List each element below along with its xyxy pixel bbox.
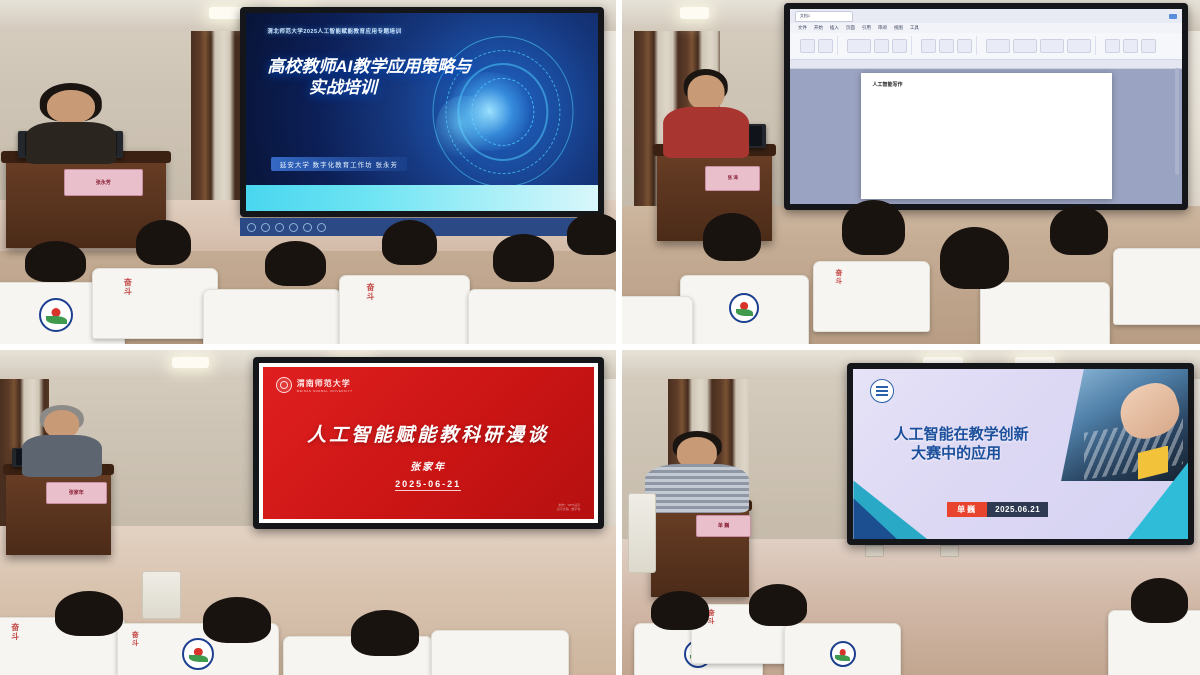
presenter-body [645,464,749,513]
audience-head [55,591,123,637]
audience-head [651,591,709,630]
projection-screen: 人工智能在教学创新 大赛中的应用 单巍 2025.06.21 [853,369,1188,539]
audience-head [703,213,761,261]
university-name-en: WEINAN NORMAL UNIVERSITY [297,389,353,393]
chair-calligraphy: 奋斗 [10,623,18,641]
side-table [142,571,181,619]
document-tab[interactable]: 文档1 [795,11,853,22]
presenter-bottom-left [31,405,93,470]
lecture-hall-bottom-right: 人工智能在教学创新 大赛中的应用 单巍 2025.06.21 单 巍 [622,350,1200,675]
projection-screen-frame: 文档1 文件 开始 插入 页面 引用 审阅 视图 工具 [784,3,1189,209]
photo-collage: 渭北师范大学2025人工智能赋能教育应用专题培训 高校教师AI教学应用策略与 实… [0,0,1200,675]
audience-head [1131,578,1189,624]
style-heading2-button[interactable] [1040,39,1064,52]
panel-top-right: 文档1 文件 开始 插入 页面 引用 审阅 视图 工具 [622,0,1200,344]
ribbon-group-font[interactable] [843,36,912,55]
menu-item-review[interactable]: 审阅 [878,25,887,31]
projection-screen: 渭北师范大学2025人工智能赋能教育应用专题培训 高校教师AI教学应用策略与 实… [246,13,597,211]
chair-calligraphy: 奋斗 [123,278,131,296]
window-controls[interactable] [1169,14,1177,19]
keyboard-photo [1061,369,1188,481]
ribbon-group-styles[interactable] [982,36,1096,55]
audience-chair [431,630,569,675]
school-crest-icon [729,293,759,323]
air-conditioner [628,493,656,573]
more-icon[interactable] [317,223,326,232]
audience-head [749,584,807,626]
audience-head [136,220,191,265]
school-crest-icon [39,298,73,332]
projection-screen: 渭南师范大学 WEINAN NORMAL UNIVERSITY 人工智能赋能教科… [259,363,598,523]
document-page[interactable]: 人工智能写作 [861,73,1112,199]
audience-chair [680,275,809,344]
slide-title: 高校教师AI教学应用策略与 实战培训 [267,56,471,98]
slide-title-line1: 人工智能在教学创新 [894,425,1029,444]
projection-screen-frame: 渭南师范大学 WEINAN NORMAL UNIVERSITY 人工智能赋能教科… [253,357,604,529]
audience-chair [784,623,902,675]
slide-ai-training: 渭北师范大学2025人工智能赋能教育应用专题培训 高校教师AI教学应用策略与 实… [246,13,597,211]
chair-calligraphy: 奋斗 [131,631,138,647]
audience-chair: 奋斗 [92,268,217,339]
audience-chair [203,289,341,344]
audience-head [25,241,87,282]
presenter-body [663,107,749,158]
menu-item-reference[interactable]: 引用 [862,25,871,31]
style-normal-button[interactable] [986,39,1010,52]
audience-chair [468,289,616,344]
slide-title-line2: 大赛中的应用 [894,444,1029,463]
slide-red-calligraphy: 渭南师范大学 WEINAN NORMAL UNIVERSITY 人工智能赋能教科… [259,363,598,523]
menu-item-home[interactable]: 开始 [814,25,823,31]
presenter-bottom-right [662,431,731,506]
copy-icon[interactable] [818,39,833,52]
audience-chair: 奋斗 [339,275,470,344]
paste-icon[interactable] [800,39,815,52]
presenter-head [687,75,724,110]
editor-ruler[interactable] [790,60,1183,69]
podium-bottom-left: 张家年 [6,464,111,555]
play-icon[interactable] [247,223,256,232]
presenter-badge: 单巍 [947,502,987,517]
select-icon[interactable] [1141,39,1156,52]
cursor-icon[interactable] [289,223,298,232]
audience-chair: 奋斗 [813,261,931,332]
slide-footnote-line2: 演示文稿 · 数字化 [557,507,581,511]
presenter-body [26,122,116,164]
slide-title: 人工智能在教学创新 大赛中的应用 [894,425,1029,463]
pen-icon[interactable] [275,223,284,232]
ribbon-group-paragraph[interactable] [917,36,977,55]
panel-bottom-right: 人工智能在教学创新 大赛中的应用 单巍 2025.06.21 单 巍 [622,350,1200,675]
slide-title: 人工智能赋能教科研漫谈 [263,420,594,447]
vertical-scrollbar[interactable] [1175,68,1179,175]
chair-calligraphy: 奋斗 [835,269,842,285]
slide-author: 张家年 [263,458,594,473]
ceiling-light [172,357,209,368]
university-name-block: 渭南师范大学 WEINAN NORMAL UNIVERSITY [297,378,353,393]
font-family-select[interactable] [847,39,871,52]
ribbon-group-editing[interactable] [1101,36,1160,55]
align-left-icon[interactable] [921,39,936,52]
audience-head [493,234,555,282]
audience-head [265,241,327,286]
document-editor-app[interactable]: 文档1 文件 开始 插入 页面 引用 审阅 视图 工具 [790,9,1183,203]
nameplate: 张永芳 [64,169,143,196]
list-icon[interactable] [957,39,972,52]
slide-date-text: 2025-06-21 [395,479,461,491]
school-crest-icon [182,638,214,670]
editor-menubar[interactable]: 文件 开始 插入 页面 引用 审阅 视图 工具 [790,23,1183,33]
lecture-hall-bottom-left: 渭南师范大学 WEINAN NORMAL UNIVERSITY 人工智能赋能教科… [0,350,616,675]
replace-icon[interactable] [1123,39,1138,52]
university-seal-icon [870,379,894,403]
slide-title-line2: 实战培训 [267,77,471,98]
style-heading3-button[interactable] [1067,39,1091,52]
wall-vent [865,545,884,557]
university-name-cn: 渭南师范大学 [297,378,353,389]
audience-head [940,227,1009,289]
editor-ribbon[interactable] [790,33,1183,60]
lecture-hall-top-left: 渭北师范大学2025人工智能赋能教育应用专题培训 高校教师AI教学应用策略与 实… [0,0,616,344]
editor-titlebar: 文档1 [790,9,1183,23]
style-heading1-button[interactable] [1013,39,1037,52]
audience-chair [622,296,693,344]
audience-head [842,200,906,255]
lecture-hall-top-right: 文档1 文件 开始 插入 页面 引用 审阅 视图 工具 [622,0,1200,344]
audience-chair [980,282,1109,344]
audience-chair [1113,248,1200,326]
slide-header-text: 渭北师范大学2025人工智能赋能教育应用专题培训 [267,27,401,35]
slide-date: 2025-06-21 [263,479,594,489]
menu-item-insert[interactable]: 插入 [830,25,839,31]
audience-head [203,597,271,643]
nameplate: 张家年 [46,482,107,504]
align-center-icon[interactable] [939,39,954,52]
university-logo: 渭南师范大学 WEINAN NORMAL UNIVERSITY [276,377,353,393]
slide-purple-ai: 人工智能在教学创新 大赛中的应用 单巍 2025.06.21 [853,369,1188,539]
menu-item-file[interactable]: 文件 [798,25,807,31]
menu-item-page[interactable]: 页面 [846,25,855,31]
find-icon[interactable] [1105,39,1120,52]
slide-footnote: 制作：WPS演示 演示文稿 · 数字化 [557,503,581,511]
projection-screen-frame: 渭北师范大学2025人工智能赋能教育应用专题培训 高校教师AI教学应用策略与 实… [240,7,603,217]
university-seal-icon [276,377,292,393]
slide-bottom-strip [246,185,597,211]
italic-icon[interactable] [892,39,907,52]
audience-head [1050,206,1108,254]
projection-screen-frame: 人工智能在教学创新 大赛中的应用 单巍 2025.06.21 [847,363,1194,545]
slide-title-line1: 高校教师AI教学应用策略与 [267,56,471,77]
ceiling-light [680,7,709,19]
panel-top-left: 渭北师范大学2025人工智能赋能教育应用专题培训 高校教师AI教学应用策略与 实… [0,0,616,344]
school-crest-icon [830,641,856,667]
audience-head [351,610,419,656]
slide-subtitle: 延安大学 数字化教育工作坊 张永芳 [271,157,407,171]
projection-screen: 文档1 文件 开始 插入 页面 引用 审阅 视图 工具 [790,9,1183,203]
audience-head [567,213,616,254]
nameplate: 单 巍 [696,515,751,537]
panel-bottom-left: 渭南师范大学 WEINAN NORMAL UNIVERSITY 人工智能赋能教科… [0,350,616,675]
bold-icon[interactable] [874,39,889,52]
slide-red-inner: 渭南师范大学 WEINAN NORMAL UNIVERSITY 人工智能赋能教科… [263,367,594,519]
presenter-head [44,410,80,437]
nameplate: 张 涛 [705,166,760,191]
ai-head-silhouette [436,96,492,163]
slide-badges: 单巍 2025.06.21 [947,502,1048,517]
presenter-top-left [31,83,111,159]
editor-canvas[interactable]: 人工智能写作 [790,69,1183,204]
ribbon-group-clipboard[interactable] [796,36,838,55]
wall-vent [940,545,959,557]
podium-bottom-right: 单 巍 [651,500,749,598]
presenter-head [47,90,95,123]
menu-item-view[interactable]: 视图 [894,25,903,31]
document-heading: 人工智能写作 [873,81,1100,88]
presenter-top-right [674,69,738,152]
presenter-body [22,435,102,477]
screen-icon[interactable] [303,223,312,232]
date-badge: 2025.06.21 [987,502,1048,517]
settings-icon[interactable] [261,223,270,232]
menu-item-tools[interactable]: 工具 [910,25,919,31]
audience-head [382,220,437,265]
chair-calligraphy: 奋斗 [366,283,374,301]
